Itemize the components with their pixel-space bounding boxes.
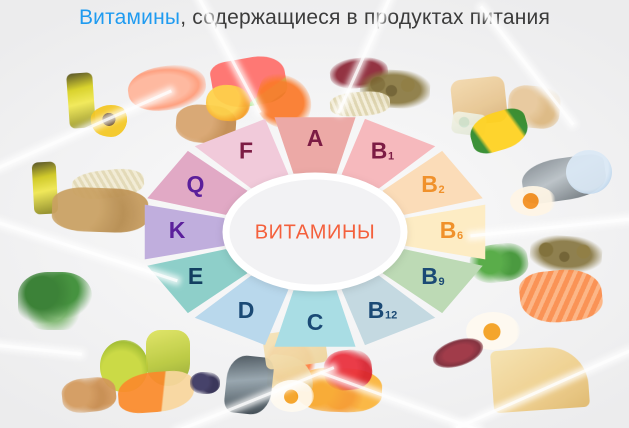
vitamin-subscript-b6: 6 <box>457 230 463 242</box>
vitamin-subscript-b2: 2 <box>439 184 445 196</box>
vitamin-label-e: E <box>188 263 203 289</box>
vitamin-letter-f: F <box>239 137 253 163</box>
vitamin-infographic: Витамины, содержащиеся в продуктах питан… <box>0 0 629 428</box>
vitamin-label-c: C <box>307 309 324 335</box>
vitamin-subscript-b9: 9 <box>439 276 445 288</box>
vitamin-letter-b12: B <box>368 297 385 323</box>
collage-divider-10 <box>0 343 82 355</box>
vitamin-label-q: Q <box>187 171 205 197</box>
food-photo-milk-splash <box>566 150 612 194</box>
wheel-center-label: ВИТАМИНЫ <box>255 221 376 243</box>
food-photo-cheese-wedge-right <box>490 345 590 414</box>
vitamin-label-d: D <box>238 297 255 323</box>
vitamin-letter-b1: B <box>371 137 388 163</box>
vitamin-letter-c: C <box>307 309 324 335</box>
vitamin-letter-b2: B <box>421 171 438 197</box>
vitamin-letter-b6: B <box>440 217 457 243</box>
vitamin-label-a: A <box>307 125 324 151</box>
food-photo-egg-fried-bottom <box>270 380 314 412</box>
food-photo-egg-yolk-right <box>510 186 556 216</box>
food-photo-olives <box>190 372 220 394</box>
vitamin-letter-b9: B <box>421 263 438 289</box>
vitamin-subscript-b12: 12 <box>385 310 397 322</box>
title-highlight: Витамины <box>79 6 180 29</box>
food-photo-lentils-right <box>529 234 603 275</box>
vitamin-letter-q: Q <box>187 171 205 197</box>
vitamin-letter-e: E <box>188 263 203 289</box>
vitamin-letter-d: D <box>238 297 255 323</box>
vitamin-letter-a: A <box>307 125 324 151</box>
vitamin-letter-k: K <box>169 217 186 243</box>
food-photo-almonds <box>60 375 117 414</box>
vitamin-label-k: K <box>169 217 186 243</box>
food-photo-broccoli <box>18 272 92 330</box>
vitamin-subscript-b1: 1 <box>388 150 394 162</box>
title-rest: , содержащиеся в продуктах питания <box>180 6 550 29</box>
food-photo-salmon <box>518 266 605 326</box>
vitamin-label-f: F <box>239 137 253 163</box>
vitamin-wheel: AB1B2B6B9B12CDEKQFВИТАМИНЫ <box>120 112 510 352</box>
page-title: Витамины, содержащиеся в продуктах питан… <box>0 6 629 30</box>
